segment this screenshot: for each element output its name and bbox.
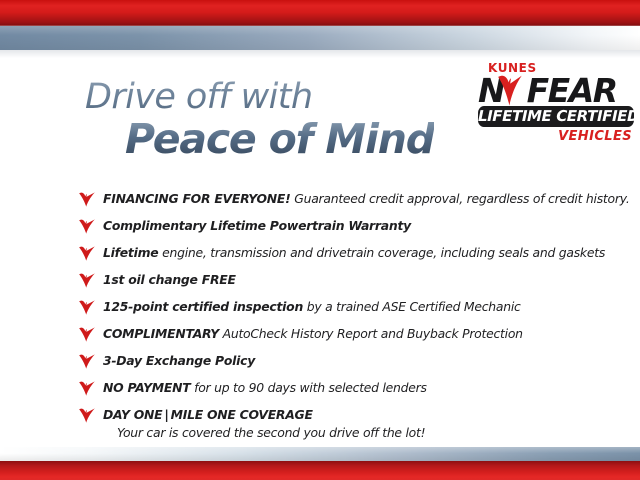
check-icon — [78, 246, 96, 261]
top-slate-band — [0, 26, 640, 50]
bottom-red-band — [0, 461, 640, 480]
list-item-lead: 3-Day Exchange Policy — [103, 353, 255, 368]
check-icon — [497, 75, 523, 106]
list-item-text: Lifetime engine, transmission and drivet… — [103, 244, 608, 261]
list-item-text: Complimentary Lifetime Powertrain Warran… — [103, 217, 608, 234]
bottom-slate-band — [0, 447, 640, 461]
check-icon — [78, 192, 96, 207]
list-item-lead: COMPLIMENTARY — [103, 326, 219, 341]
list-item-lead: Complimentary Lifetime Powertrain Warran… — [103, 218, 411, 233]
headline-block: Drive off with Peace of Mind — [85, 78, 434, 161]
list-item: FINANCING FOR EVERYONE! Guaranteed credi… — [78, 190, 608, 209]
list-item-text: DAY ONE|MILE ONE COVERAGE — [103, 406, 608, 423]
list-item-rest: engine, transmission and drivetrain cove… — [158, 245, 605, 260]
list-item-text: 1st oil change FREE — [103, 271, 608, 288]
list-item-lead: 1st oil change FREE — [103, 272, 236, 287]
list-item-lead: 125-point certified inspection — [103, 299, 303, 314]
list-item: 1st oil change FREE — [78, 271, 608, 290]
headline-line-2: Peace of Mind — [125, 117, 434, 161]
logo-category-vehicles: VEHICLES — [478, 130, 632, 144]
logo-word-fear: FEAR — [527, 71, 617, 110]
list-item: 3-Day Exchange Policy — [78, 352, 608, 371]
check-icon — [78, 381, 96, 396]
list-item: COMPLIMENTARY AutoCheck History Report a… — [78, 325, 608, 344]
list-item-rest: for up to 90 days with selected lenders — [190, 380, 426, 395]
top-band-shadow — [0, 50, 640, 58]
check-icon — [78, 273, 96, 288]
list-item-text: 125-point certified inspection by a trai… — [103, 298, 608, 315]
list-item-lead: NO PAYMENT — [103, 380, 190, 395]
benefits-list: FINANCING FOR EVERYONE! Guaranteed credi… — [78, 190, 608, 449]
list-item-text: 3-Day Exchange Policy — [103, 352, 608, 369]
logo-certification-bar: LIFETIME CERTIFIED — [478, 106, 634, 127]
list-item-rest: by a trained ASE Certified Mechanic — [303, 299, 521, 314]
list-item-text: COMPLIMENTARY AutoCheck History Report a… — [103, 325, 608, 342]
list-item-text: FINANCING FOR EVERYONE! Guaranteed credi… — [103, 190, 608, 207]
list-item: DAY ONE|MILE ONE COVERAGE Your car is co… — [78, 406, 608, 441]
check-icon — [78, 354, 96, 369]
list-item: NO PAYMENT for up to 90 days with select… — [78, 379, 608, 398]
check-icon — [78, 300, 96, 315]
check-icon — [78, 219, 96, 234]
list-item-lead-2: MILE ONE COVERAGE — [171, 407, 313, 422]
list-item-separator: | — [162, 407, 170, 422]
top-red-band — [0, 0, 640, 26]
list-item-lead: Lifetime — [103, 245, 158, 260]
list-item: 125-point certified inspection by a trai… — [78, 298, 608, 317]
check-icon — [78, 408, 96, 423]
list-item-lead: FINANCING FOR EVERYONE! — [103, 191, 291, 206]
list-item-text: NO PAYMENT for up to 90 days with select… — [103, 379, 608, 396]
list-item: Complimentary Lifetime Powertrain Warran… — [78, 217, 608, 236]
list-item-rest: Guaranteed credit approval, regardless o… — [291, 191, 630, 206]
headline-line-1: Drive off with — [85, 78, 434, 116]
kunes-no-fear-logo: KUNES NFEAR LIFETIME CERTIFIED VEHICLES — [478, 62, 636, 144]
list-item-rest: AutoCheck History Report and Buyback Pro… — [219, 326, 523, 341]
list-item: Lifetime engine, transmission and drivet… — [78, 244, 608, 263]
check-icon — [78, 327, 96, 342]
list-item-lead: DAY ONE — [103, 407, 162, 422]
logo-nofear-wordmark: NFEAR — [478, 74, 636, 108]
advertisement-banner: Drive off with Peace of Mind KUNES NFEAR… — [0, 0, 640, 480]
logo-certification-text: LIFETIME CERTIFIED — [478, 106, 634, 127]
list-item-subtext: Your car is covered the second you drive… — [117, 424, 608, 441]
